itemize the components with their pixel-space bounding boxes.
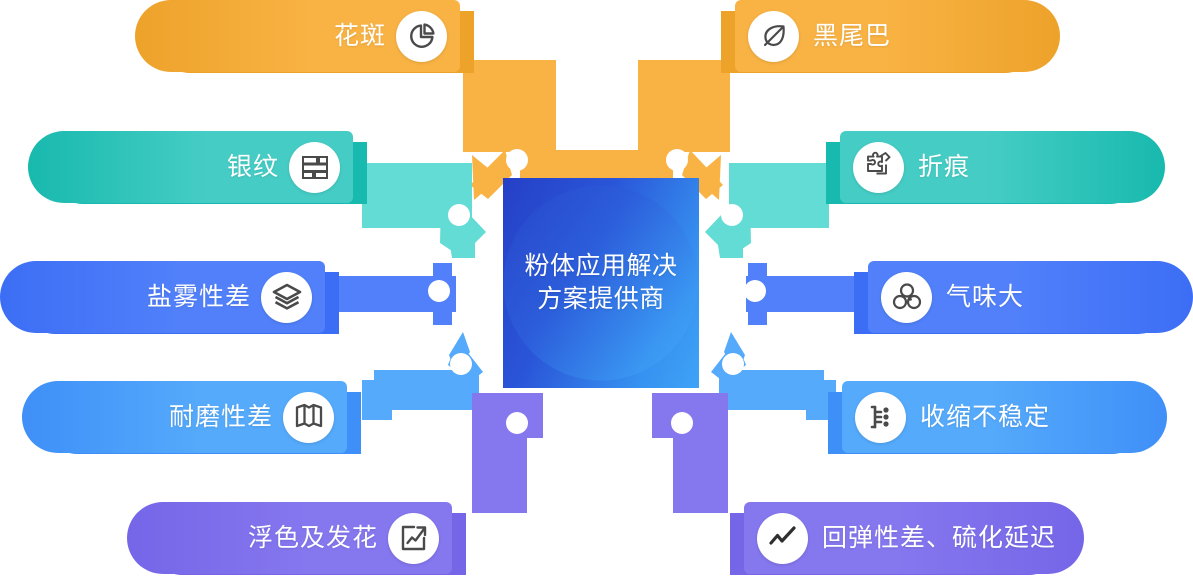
pill-content: 耐磨性差 [22, 381, 347, 453]
hierarchy-icon [855, 392, 906, 443]
connector-qiweida [744, 263, 871, 325]
pill-content: 气味大 [868, 261, 1193, 333]
pie-chart-icon [396, 11, 447, 62]
item-qiweida[interactable]: 气味大 [868, 261, 1193, 333]
pill-content: 盐雾性差 [0, 261, 325, 333]
item-zhehen[interactable]: 折痕 [840, 131, 1165, 203]
connector-naimoxingcha [362, 332, 483, 420]
connector-yanwuxingcha [331, 263, 456, 325]
item-heiweiba[interactable]: 黑尾巴 [735, 0, 1060, 72]
recycle-icon [881, 272, 932, 323]
pill-content: 银纹 [28, 131, 353, 203]
connector-dot [671, 412, 693, 434]
pill-label: 收缩不稳定 [920, 405, 1050, 430]
connector-dot [428, 280, 450, 302]
item-yinwen[interactable]: 银纹 [28, 131, 353, 203]
item-fusejifahua[interactable]: 浮色及发花 [127, 502, 452, 574]
puzzle-piece-icon [853, 142, 904, 193]
infographic-canvas: 粉体应用解决 方案提供商 花斑黑尾巴银纹折痕盐雾性差气味大耐磨性差收缩不稳定浮色… [0, 0, 1193, 577]
pill-content: 花斑 [135, 0, 460, 72]
layers-icon [261, 272, 312, 323]
connector-huitanxingcha [652, 393, 728, 513]
connector-dot [722, 353, 744, 375]
connector-dot [506, 149, 528, 171]
connector-shousuobuwending [711, 332, 836, 420]
connector-yinwen [362, 163, 486, 258]
connector-fusejifahua [472, 393, 543, 513]
center-label: 粉体应用解决 方案提供商 [503, 250, 699, 316]
pill-label: 黑尾巴 [813, 24, 891, 49]
connector-zhehen [705, 163, 829, 258]
connector-dot [450, 353, 472, 375]
item-huitanxingcha[interactable]: 回弹性差、硫化延迟 [744, 502, 1084, 574]
pill-content: 收缩不稳定 [842, 381, 1167, 453]
pill-label: 耐磨性差 [169, 405, 273, 430]
pill-label: 浮色及发花 [248, 526, 378, 551]
connector-dot [721, 204, 743, 226]
pill-label: 花斑 [334, 24, 386, 49]
pill-label: 银纹 [227, 155, 279, 180]
pill-label: 折痕 [918, 155, 970, 180]
item-yanwuxingcha[interactable]: 盐雾性差 [0, 261, 325, 333]
pill-content: 浮色及发花 [127, 502, 452, 574]
open-book-icon [283, 392, 334, 443]
connector-dot [666, 149, 688, 171]
pill-label: 气味大 [946, 285, 1024, 310]
pill-content: 折痕 [840, 131, 1165, 203]
connector-dot [448, 204, 470, 226]
connector-dot [506, 412, 528, 434]
item-huaban[interactable]: 花斑 [135, 0, 460, 72]
brick-wall-icon [289, 142, 340, 193]
item-shousuobuwending[interactable]: 收缩不稳定 [842, 381, 1167, 453]
item-naimoxingcha[interactable]: 耐磨性差 [22, 381, 347, 453]
pill-content: 黑尾巴 [735, 0, 1060, 72]
zigzag-line-icon [757, 513, 808, 564]
center-node: 粉体应用解决 方案提供商 [503, 178, 699, 388]
pill-label: 回弹性差、硫化延迟 [822, 526, 1056, 551]
connector-dot [744, 280, 766, 302]
leaf-icon [748, 11, 799, 62]
pill-label: 盐雾性差 [147, 285, 251, 310]
trend-up-box-icon [388, 513, 439, 564]
pill-content: 回弹性差、硫化延迟 [744, 502, 1084, 574]
